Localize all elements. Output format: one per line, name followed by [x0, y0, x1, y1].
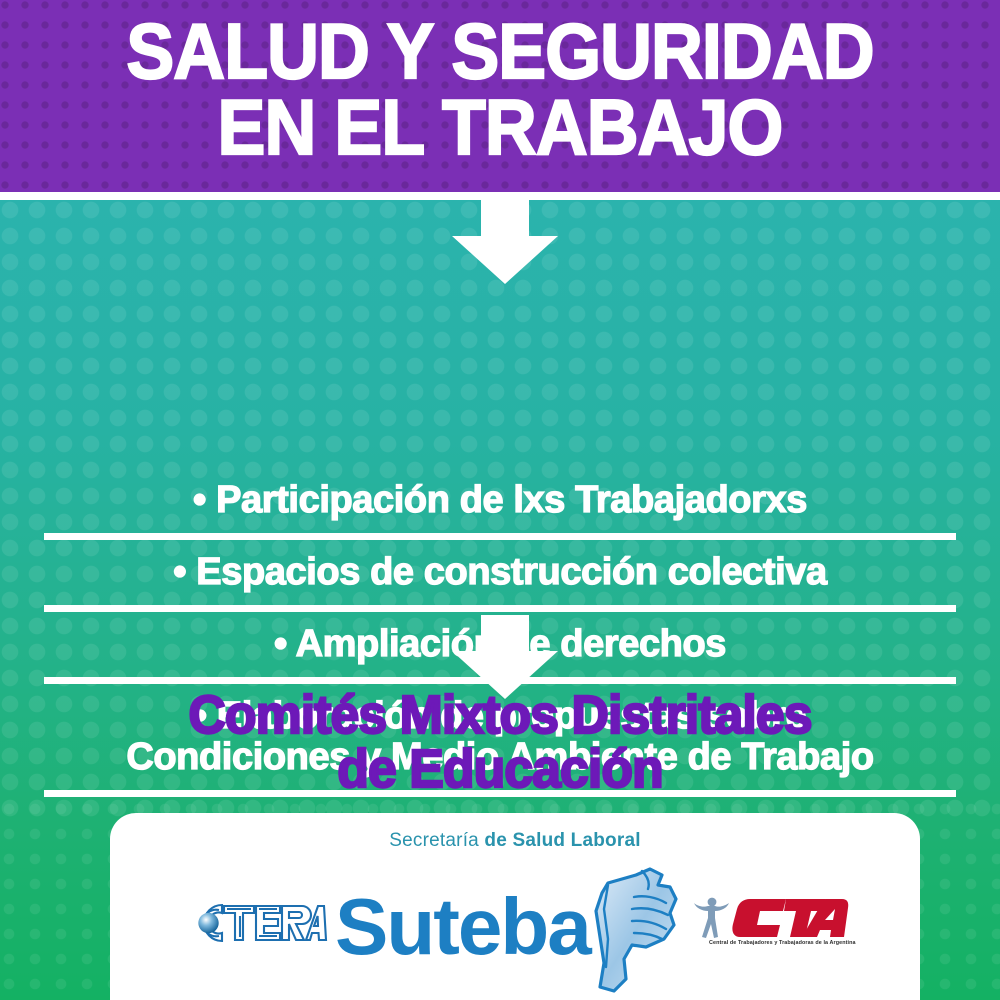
list-item: • Espacios de construcción colectiva	[0, 540, 1000, 605]
ctera-logo-mark	[188, 899, 328, 947]
footer-caption-bold: de Salud Laboral	[484, 830, 640, 851]
suteba-wordmark: Suteba	[335, 887, 590, 967]
conclusion-heading: Comités Mixtos Distritales de Educación	[20, 688, 980, 796]
divider	[44, 605, 956, 612]
cta-logo-mark	[690, 891, 850, 957]
list-item: • Participación de lxs Trabajadorxs	[0, 468, 1000, 533]
poster-root: SALUD Y SEGURIDAD EN EL TRABAJO • Partic…	[0, 0, 1000, 1000]
divider	[44, 533, 956, 540]
suteba-logo: Suteba	[335, 867, 680, 995]
cta-logo: Central de Trabajadores y Trabajadoras d…	[690, 891, 850, 957]
page-title: SALUD Y SEGURIDAD EN EL TRABAJO	[40, 14, 960, 165]
footer-caption: Secretaría de Salud Laboral	[110, 830, 920, 852]
header-band: SALUD Y SEGURIDAD EN EL TRABAJO	[0, 0, 1000, 192]
cta-caption-text: Central de Trabajadores y Trabajadoras d…	[709, 940, 856, 946]
footer-card: Secretaría de Salud Laboral	[110, 813, 920, 1000]
footer-caption-light: Secretaría	[389, 830, 484, 851]
ctera-logo	[188, 899, 328, 947]
suteba-hand-icon	[578, 867, 680, 995]
logo-row: Suteba	[110, 865, 920, 985]
arrow-down-icon	[452, 200, 558, 284]
